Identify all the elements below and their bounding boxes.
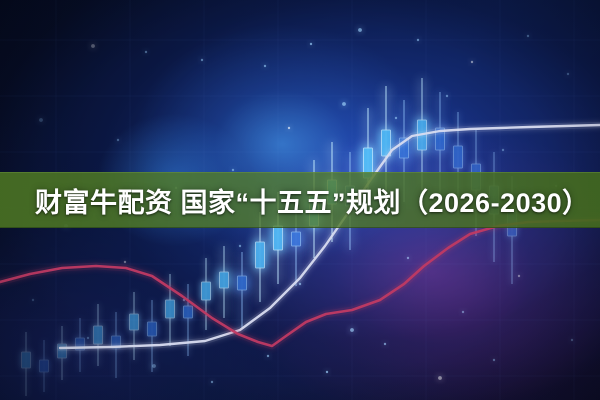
title-band: 财富牛配资 国家“十五五”规划（2026-2030） — [0, 172, 600, 228]
page-title: 财富牛配资 国家“十五五”规划（2026-2030） — [35, 181, 590, 220]
banner-image: 财富牛配资 国家“十五五”规划（2026-2030） — [0, 0, 600, 400]
